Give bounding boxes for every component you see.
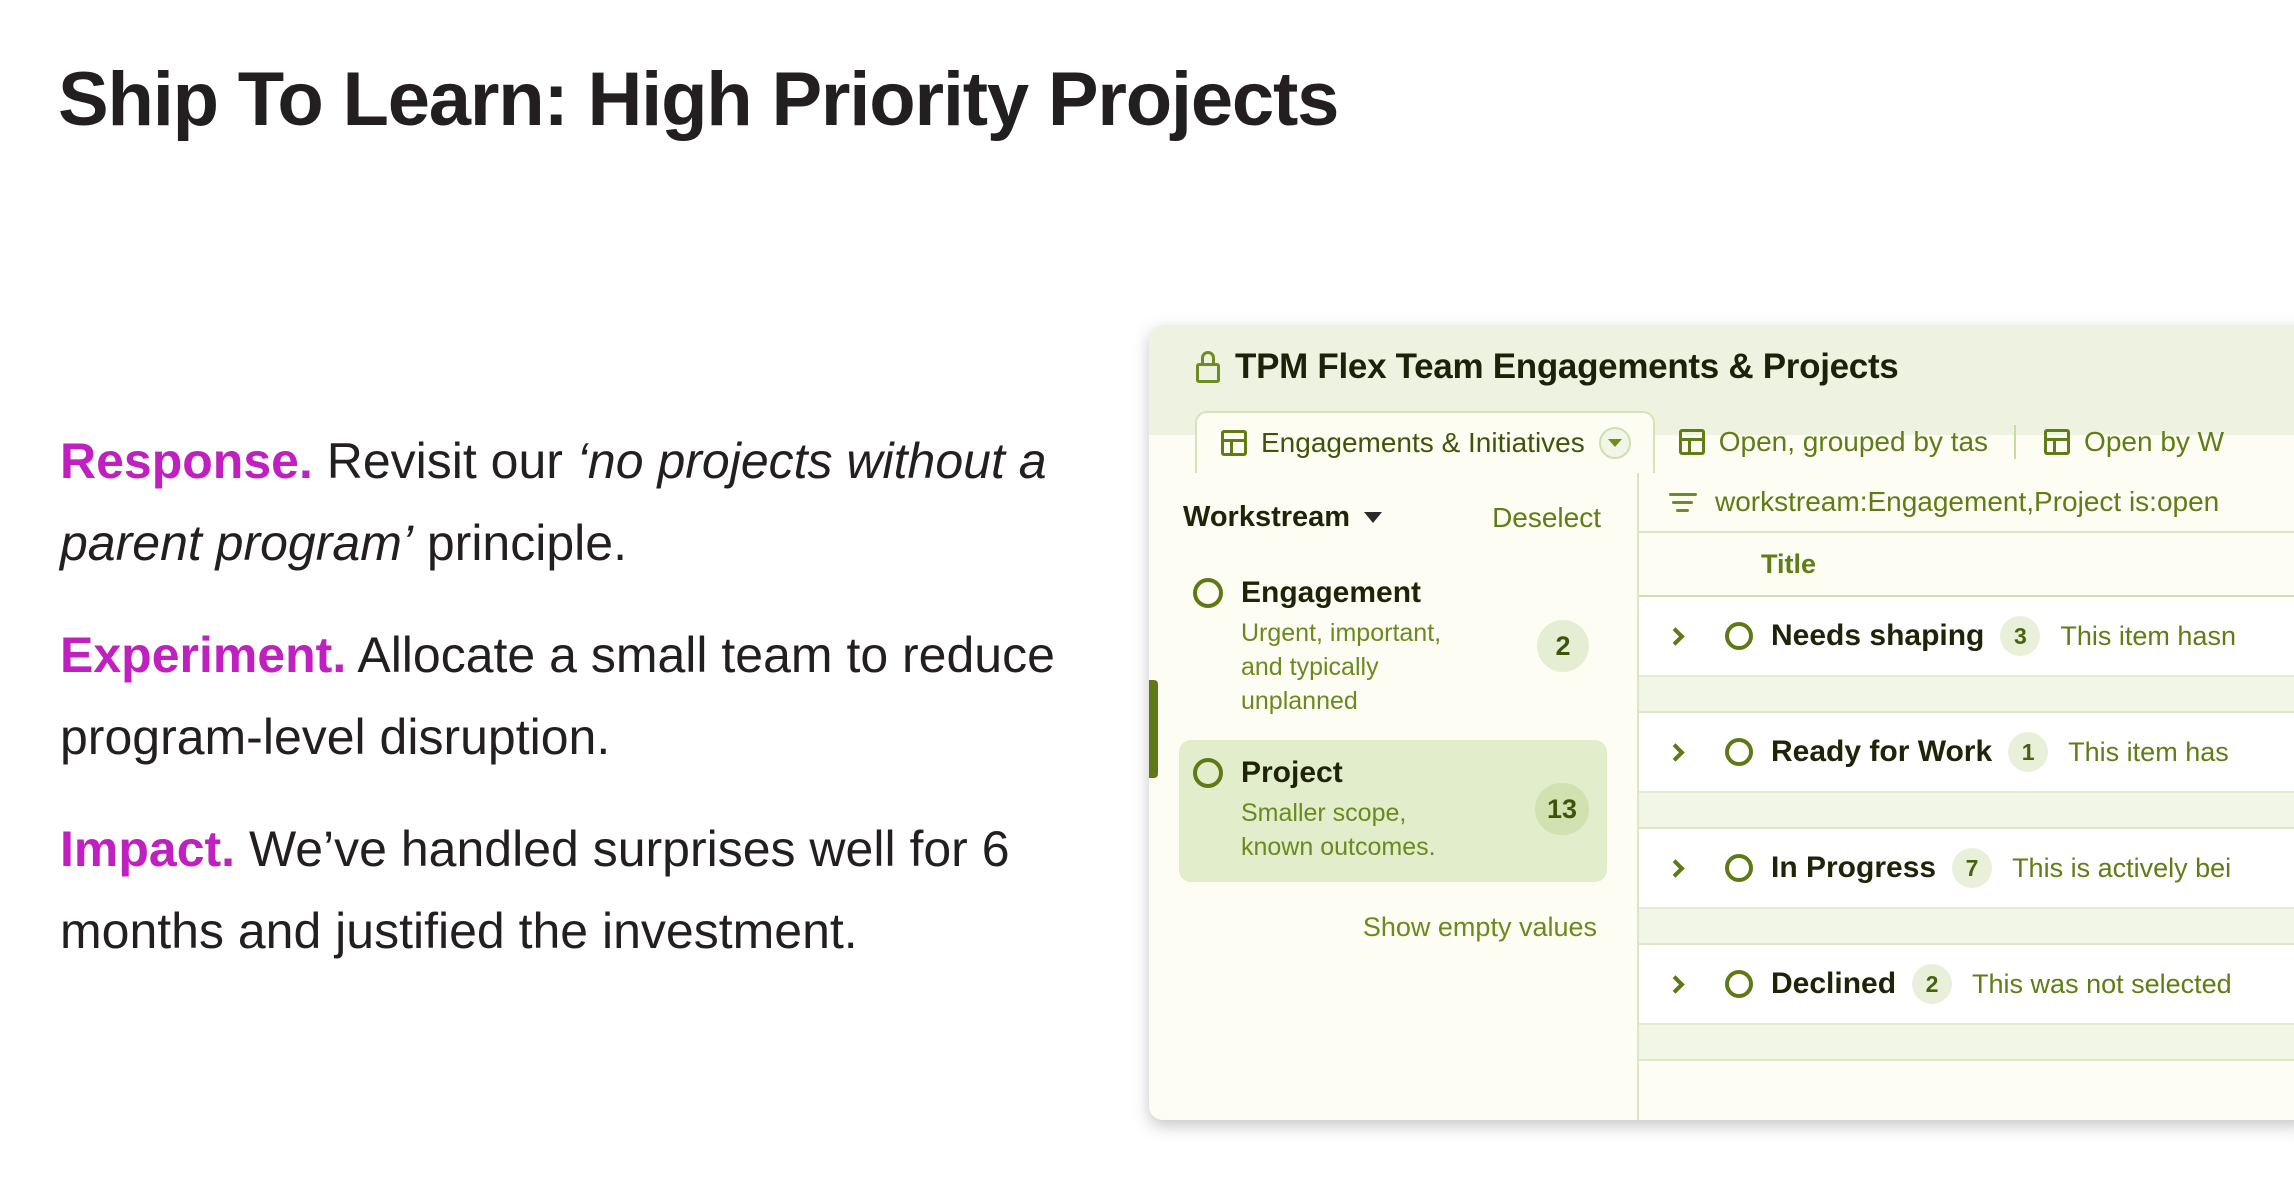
screenshot-panel: TPM Flex Team Engagements & Projects Eng… bbox=[1149, 325, 2294, 1120]
table-row[interactable]: Declined 2 This was not selected bbox=[1639, 945, 2294, 1023]
paragraph-response: Response. Revisit our ‘no projects witho… bbox=[60, 420, 1135, 584]
group-name: Ready for Work bbox=[1771, 735, 1992, 769]
group-name: Needs shaping bbox=[1771, 619, 1984, 653]
group-name: Declined bbox=[1771, 967, 1896, 1001]
tab-label: Open, grouped by tas bbox=[1719, 426, 1988, 458]
table-empty-space bbox=[1639, 1061, 2294, 1120]
circle-icon bbox=[1193, 578, 1223, 608]
group-description: This is actively bei bbox=[2012, 853, 2231, 884]
paragraph-text: Revisit our bbox=[313, 433, 577, 489]
table-row[interactable]: Ready for Work 1 This item has bbox=[1639, 713, 2294, 791]
facet-item-engagement[interactable]: Engagement Urgent, important, and typica… bbox=[1179, 560, 1607, 736]
table-region: workstream:Engagement,Project is:open Ti… bbox=[1637, 473, 2294, 1120]
group-count-badge: 3 bbox=[2000, 616, 2040, 656]
circle-icon bbox=[1193, 758, 1223, 788]
row-divider bbox=[1639, 1023, 2294, 1061]
table-row[interactable]: In Progress 7 This is actively bei bbox=[1639, 829, 2294, 907]
filter-icon bbox=[1669, 491, 1697, 513]
facet-group-label: Workstream bbox=[1183, 501, 1350, 534]
project-title: TPM Flex Team Engagements & Projects bbox=[1195, 347, 2294, 387]
tab-divider bbox=[2014, 425, 2016, 459]
facet-group-header[interactable]: Workstream Deselect bbox=[1179, 501, 1607, 534]
group-count-badge: 7 bbox=[1952, 848, 1992, 888]
circle-icon bbox=[1725, 970, 1753, 998]
paragraph-experiment: Experiment. Allocate a small team to red… bbox=[60, 614, 1135, 778]
column-header-title: Title bbox=[1761, 549, 1816, 580]
facet-count-badge: 2 bbox=[1537, 620, 1589, 672]
table-icon bbox=[1679, 429, 1705, 455]
body-copy: Response. Revisit our ‘no projects witho… bbox=[60, 420, 1135, 972]
filter-input[interactable]: workstream:Engagement,Project is:open bbox=[1715, 486, 2219, 518]
table-icon bbox=[1221, 430, 1247, 456]
table-column-header: Title bbox=[1639, 533, 2294, 597]
paragraph-impact: Impact. We’ve handled surprises well for… bbox=[60, 808, 1135, 972]
facet-description: Urgent, important, and typically unplann… bbox=[1241, 616, 1471, 718]
chevron-right-icon[interactable] bbox=[1669, 630, 1725, 643]
selection-indicator bbox=[1149, 680, 1158, 778]
group-count-badge: 2 bbox=[1912, 964, 1952, 1004]
circle-icon bbox=[1725, 854, 1753, 882]
facet-item-project[interactable]: Project Smaller scope, known outcomes. 1… bbox=[1179, 740, 1607, 882]
row-divider bbox=[1639, 675, 2294, 713]
slide-root: Ship To Learn: High Priority Projects Re… bbox=[0, 0, 2294, 1200]
group-description: This was not selected bbox=[1972, 969, 2232, 1000]
table-row[interactable]: Needs shaping 3 This item hasn bbox=[1639, 597, 2294, 675]
row-divider bbox=[1639, 791, 2294, 829]
tab-open-grouped-by-task[interactable]: Open, grouped by tas bbox=[1655, 411, 2010, 473]
show-empty-values-button[interactable]: Show empty values bbox=[1179, 886, 1607, 943]
tab-label: Open by W bbox=[2084, 426, 2224, 458]
lock-icon bbox=[1195, 351, 1221, 383]
project-title-label: TPM Flex Team Engagements & Projects bbox=[1235, 347, 1898, 387]
facet-name: Engagement bbox=[1241, 574, 1519, 612]
tab-engagements-and-initiatives[interactable]: Engagements & Initiatives bbox=[1195, 411, 1655, 473]
group-name: In Progress bbox=[1771, 851, 1936, 885]
page-title: Ship To Learn: High Priority Projects bbox=[58, 56, 1338, 143]
chevron-right-icon[interactable] bbox=[1669, 978, 1725, 991]
panel-body: Workstream Deselect Engagement Urgent, i… bbox=[1149, 473, 2294, 1120]
paragraph-lead: Impact. bbox=[60, 821, 235, 877]
tab-label: Engagements & Initiatives bbox=[1261, 427, 1585, 459]
paragraph-text-tail: principle. bbox=[413, 515, 627, 571]
group-count-badge: 1 bbox=[2008, 732, 2048, 772]
facet-description: Smaller scope, known outcomes. bbox=[1241, 796, 1471, 864]
table-icon bbox=[2044, 429, 2070, 455]
row-divider bbox=[1639, 907, 2294, 945]
tab-open-by-workstream[interactable]: Open by W bbox=[2020, 411, 2246, 473]
deselect-button[interactable]: Deselect bbox=[1492, 502, 1601, 534]
chevron-right-icon[interactable] bbox=[1669, 862, 1725, 875]
facet-name: Project bbox=[1241, 754, 1517, 792]
group-description: This item hasn bbox=[2060, 621, 2236, 652]
paragraph-lead: Response. bbox=[60, 433, 313, 489]
filter-bar[interactable]: workstream:Engagement,Project is:open bbox=[1639, 473, 2294, 533]
chevron-right-icon[interactable] bbox=[1669, 746, 1725, 759]
facet-count-badge: 13 bbox=[1535, 783, 1589, 835]
chevron-down-icon[interactable] bbox=[1599, 427, 1631, 459]
tab-bar: Engagements & Initiatives Open, grouped … bbox=[1149, 411, 2294, 473]
group-description: This item has bbox=[2068, 737, 2229, 768]
facet-sidebar: Workstream Deselect Engagement Urgent, i… bbox=[1149, 473, 1637, 1120]
circle-icon bbox=[1725, 622, 1753, 650]
chevron-down-icon[interactable] bbox=[1364, 512, 1382, 523]
paragraph-lead: Experiment. bbox=[60, 627, 346, 683]
circle-icon bbox=[1725, 738, 1753, 766]
